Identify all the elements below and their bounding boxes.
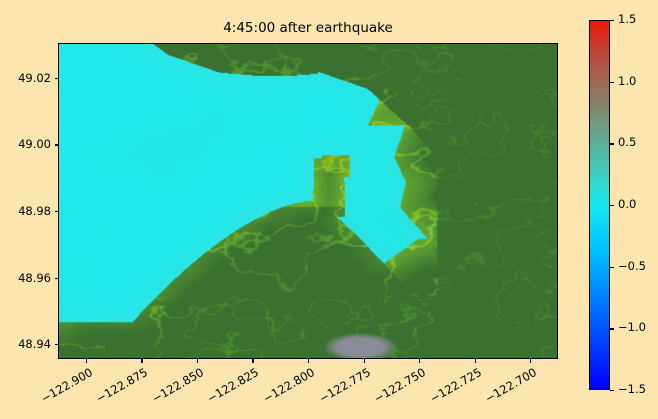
y-tick-mark <box>55 144 59 145</box>
x-tick-mark <box>364 359 365 363</box>
colorbar-tick-label: 1.0 <box>618 74 636 88</box>
x-tick-mark <box>86 359 87 363</box>
y-tick-label: 48.96 <box>5 271 51 285</box>
colorbar-tick-label: 1.5 <box>618 12 636 26</box>
y-tick-label: 49.00 <box>5 137 51 151</box>
page-title: 4:45:00 after earthquake <box>58 20 558 36</box>
colorbar-tick-label: −0.5 <box>618 259 646 273</box>
x-tick-mark <box>419 359 420 363</box>
x-tick-label: −122.875 <box>90 365 151 408</box>
colorbar-tick-mark <box>610 82 614 83</box>
x-tick-label: −122.700 <box>479 365 540 408</box>
colorbar-tick-label: 0.0 <box>618 197 636 211</box>
colorbar-tick-label: 0.5 <box>618 135 636 149</box>
x-tick-mark <box>308 359 309 363</box>
x-tick-mark <box>252 359 253 363</box>
map-axes[interactable] <box>58 43 558 359</box>
colorbar-tick-mark <box>610 205 614 206</box>
y-tick-label: 48.94 <box>5 337 51 351</box>
colorbar-tick-mark <box>610 143 614 144</box>
colorbar-tick-mark <box>610 267 614 268</box>
y-tick-mark <box>55 278 59 279</box>
x-tick-label: −122.800 <box>256 365 317 408</box>
colorbar-tick-mark <box>610 390 614 391</box>
x-tick-mark <box>197 359 198 363</box>
x-tick-label: −122.725 <box>423 365 484 408</box>
x-tick-mark <box>475 359 476 363</box>
y-tick-mark <box>55 211 59 212</box>
colorbar-tick-mark <box>610 20 614 21</box>
colorbar-tick-label: −1.0 <box>618 320 646 334</box>
colorbar-tick-mark <box>610 328 614 329</box>
colorbar-tick-label: −1.5 <box>618 382 646 396</box>
x-tick-label: −122.750 <box>367 365 428 408</box>
y-tick-label: 49.02 <box>5 71 51 85</box>
y-tick-mark <box>55 78 59 79</box>
x-tick-mark <box>530 359 531 363</box>
y-tick-mark <box>55 344 59 345</box>
x-tick-label: −122.850 <box>145 365 206 408</box>
x-tick-mark <box>141 359 142 363</box>
x-tick-label: −122.900 <box>34 365 95 408</box>
x-tick-label: −122.775 <box>312 365 373 408</box>
figure-canvas: 4:45:00 after earthquake 48.9448.9648.98… <box>0 0 658 419</box>
tsunami-heatmap <box>59 44 557 358</box>
x-tick-label: −122.825 <box>201 365 262 408</box>
y-tick-label: 48.98 <box>5 204 51 218</box>
colorbar[interactable] <box>589 20 610 390</box>
